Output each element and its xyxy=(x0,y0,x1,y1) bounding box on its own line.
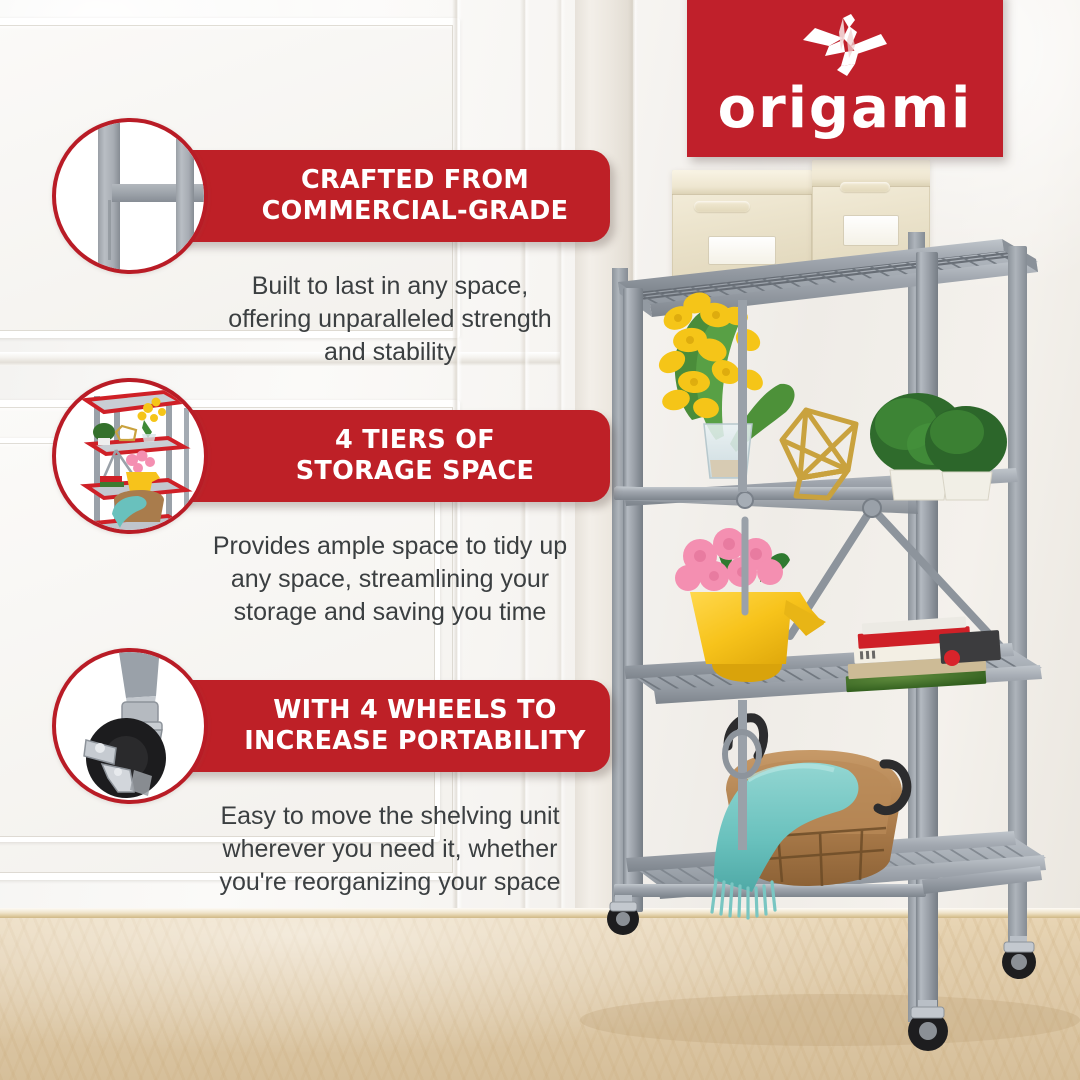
feature-banner-four-wheels: WITH 4 WHEELS TO INCREASE PORTABILITY xyxy=(156,680,610,772)
feature-headline-line2: INCREASE PORTABILITY xyxy=(244,726,586,757)
feature-body-four-tiers: Provides ample space to tidy up any spac… xyxy=(170,530,610,629)
feature-body-commercial-grade: Built to last in any space, offering unp… xyxy=(170,270,610,369)
feature-headline-line2: STORAGE SPACE xyxy=(296,456,535,487)
feature-icon-circle-four-tiers xyxy=(52,378,208,534)
origami-crane-icon xyxy=(785,6,905,86)
caster-wheel-icon xyxy=(56,652,204,800)
shelf-frame-joint-icon xyxy=(56,122,204,270)
caster-wheel-back-right xyxy=(1002,936,1036,979)
feature-headline-line1: WITH 4 WHEELS TO xyxy=(273,695,557,726)
brand-wordmark: origami xyxy=(718,81,973,137)
feature-banner-four-tiers: 4 TIERS OF STORAGE SPACE xyxy=(156,410,610,502)
caster-wheel-front-right xyxy=(908,1000,948,1051)
brand-logo: origami xyxy=(687,0,1003,157)
yellow-orchid-vase xyxy=(655,289,795,478)
feature-headline-line1: 4 TIERS OF xyxy=(335,425,495,456)
feature-banner-commercial-grade: CRAFTED FROM COMMERCIAL-GRADE xyxy=(156,150,610,242)
stacked-books xyxy=(846,616,1001,692)
feature-icon-circle-four-wheels xyxy=(52,648,208,804)
four-tier-shelving-icon xyxy=(56,382,204,530)
feature-icon-circle-commercial-grade xyxy=(52,118,208,274)
feature-body-four-wheels: Easy to move the shelving unit wherever … xyxy=(170,800,610,899)
feature-headline-line2: COMMERCIAL-GRADE xyxy=(262,196,569,227)
feature-headline-line1: CRAFTED FROM xyxy=(301,165,529,196)
